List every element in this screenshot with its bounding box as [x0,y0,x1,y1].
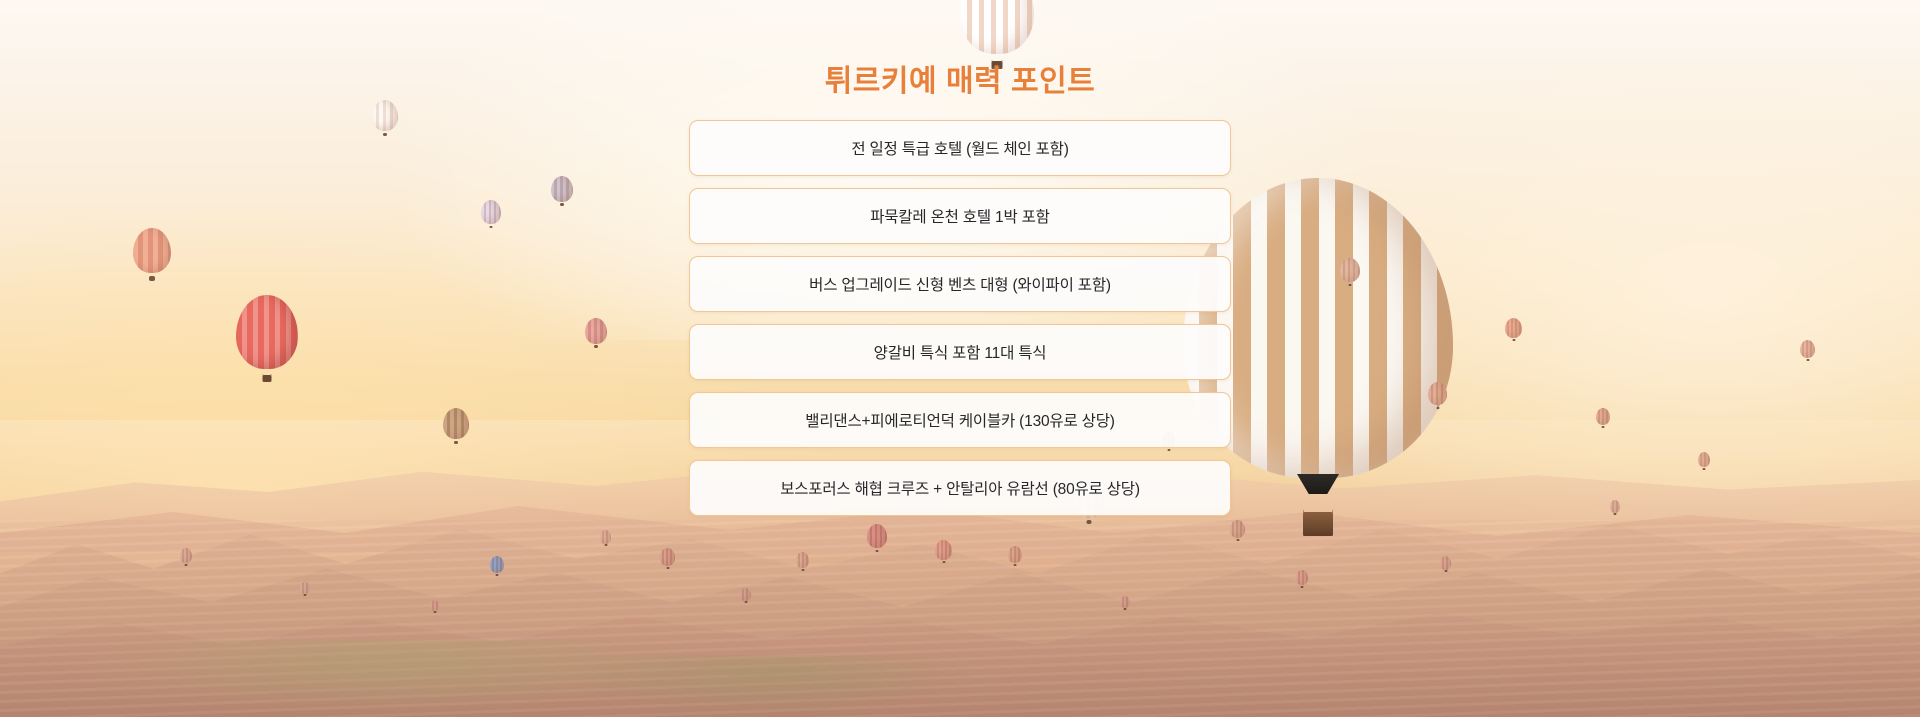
feature-card[interactable]: 밸리댄스+피에로티언덕 케이블카 (130유로 상당) [689,392,1231,448]
feature-card-label: 양갈비 특식 포함 11대 특식 [874,341,1047,363]
feature-card-label: 밸리댄스+피에로티언덕 케이블카 (130유로 상당) [805,409,1114,431]
feature-card-label: 보스포러스 해협 크루즈 + 안탈리아 유람선 (80유로 상당) [780,477,1140,499]
page-title: 튀르키예 매력 포인트 [825,56,1096,100]
feature-list: 전 일정 특급 호텔 (월드 체인 포함) 파묵칼레 온천 호텔 1박 포함 버… [689,120,1231,516]
feature-card[interactable]: 양갈비 특식 포함 11대 특식 [689,324,1231,380]
feature-card-label: 파묵칼레 온천 호텔 1박 포함 [870,205,1050,227]
feature-card[interactable]: 파묵칼레 온천 호텔 1박 포함 [689,188,1231,244]
feature-card-label: 전 일정 특급 호텔 (월드 체인 포함) [851,137,1068,159]
feature-card[interactable]: 보스포러스 해협 크루즈 + 안탈리아 유람선 (80유로 상당) [689,460,1231,516]
feature-card-label: 버스 업그레이드 신형 벤츠 대형 (와이파이 포함) [809,273,1111,295]
feature-card[interactable]: 전 일정 특급 호텔 (월드 체인 포함) [689,120,1231,176]
feature-card[interactable]: 버스 업그레이드 신형 벤츠 대형 (와이파이 포함) [689,256,1231,312]
page-content: 튀르키예 매력 포인트 전 일정 특급 호텔 (월드 체인 포함) 파묵칼레 온… [0,0,1920,717]
